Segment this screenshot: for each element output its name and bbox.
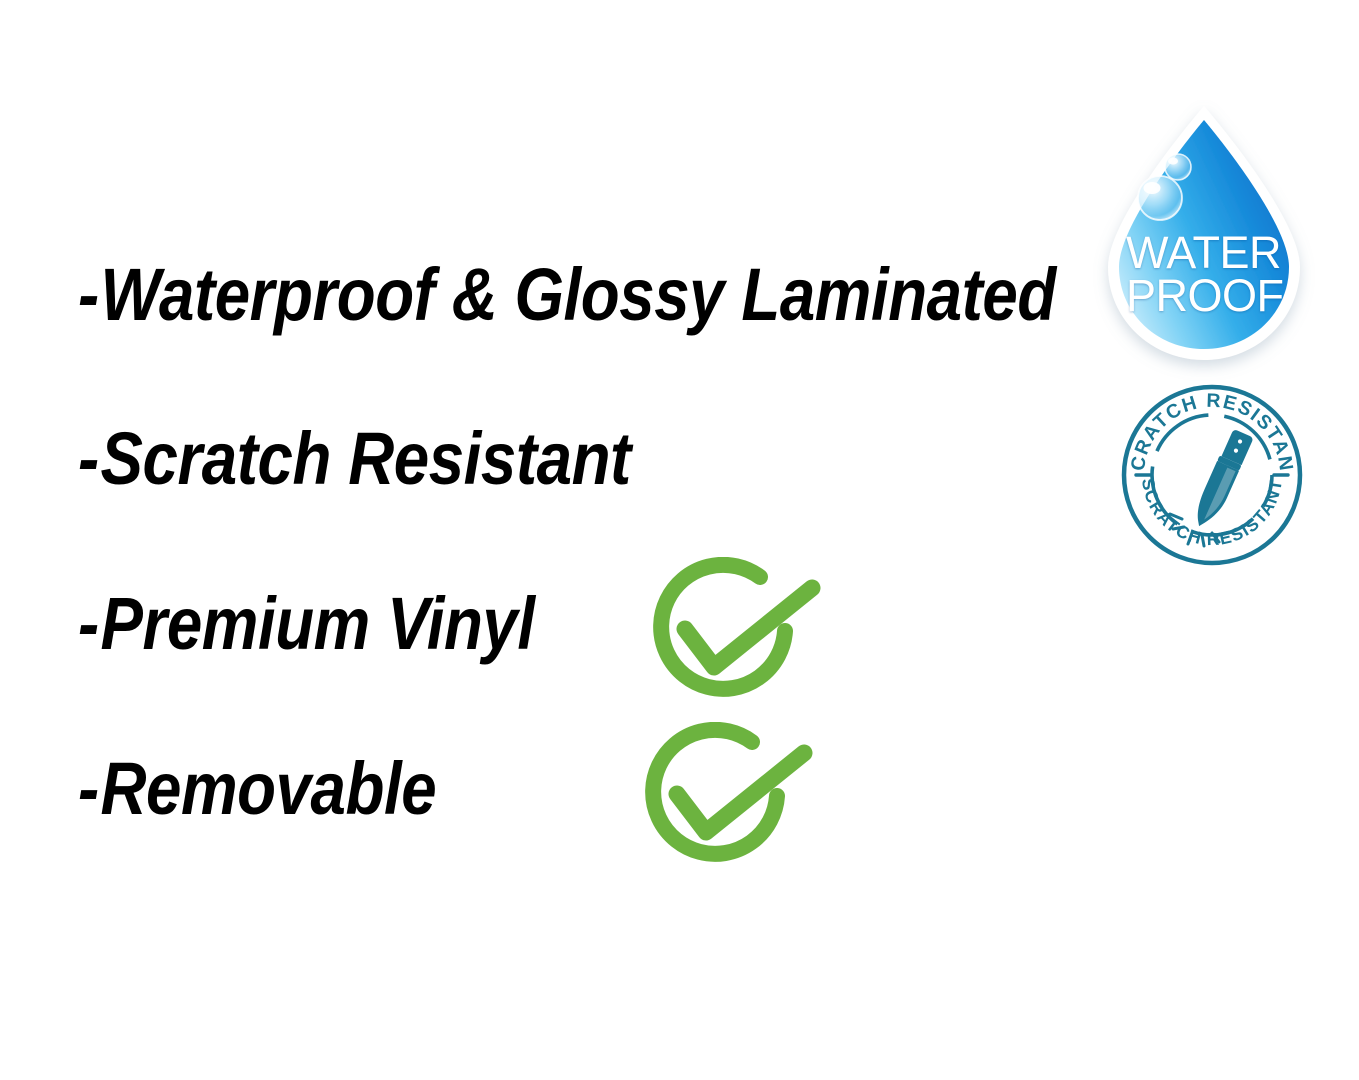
feature-bullet-dash: - [78, 258, 99, 332]
stamp-text-top: SCRATCH RESISTANT [1120, 383, 1297, 473]
feature-list-graphic: -Waterproof & Glossy Laminated -Scratch … [0, 0, 1359, 1080]
feature-bullet-dash: - [78, 752, 99, 826]
feature-label: Scratch Resistant [100, 417, 630, 500]
droplet-shape [1108, 106, 1300, 360]
knife-icon [1190, 428, 1254, 532]
feature-item-scratch-resistant: -Scratch Resistant [78, 422, 631, 496]
check-stroke [677, 753, 804, 832]
feature-item-waterproof: -Waterproof & Glossy Laminated [78, 258, 1056, 332]
feature-label: Waterproof & Glossy Laminated [100, 253, 1055, 336]
feature-label: Removable [100, 747, 436, 830]
green-check-icon-removable [634, 722, 824, 882]
bubble-large [1138, 176, 1182, 220]
green-check-icon-premium-vinyl [642, 557, 832, 717]
feature-bullet-dash: - [78, 587, 99, 661]
bubble-small [1165, 154, 1191, 180]
feature-label: Premium Vinyl [100, 582, 534, 665]
scratch-resistant-badge: SCRATCH RESISTANT SCRATCH RESISTANT [1120, 383, 1304, 567]
feature-item-premium-vinyl: -Premium Vinyl [78, 587, 535, 661]
check-stroke [685, 588, 812, 667]
feature-item-removable: -Removable [78, 752, 436, 826]
waterproof-badge: WATER PROOF [1104, 104, 1304, 362]
feature-bullet-dash: - [78, 422, 99, 496]
